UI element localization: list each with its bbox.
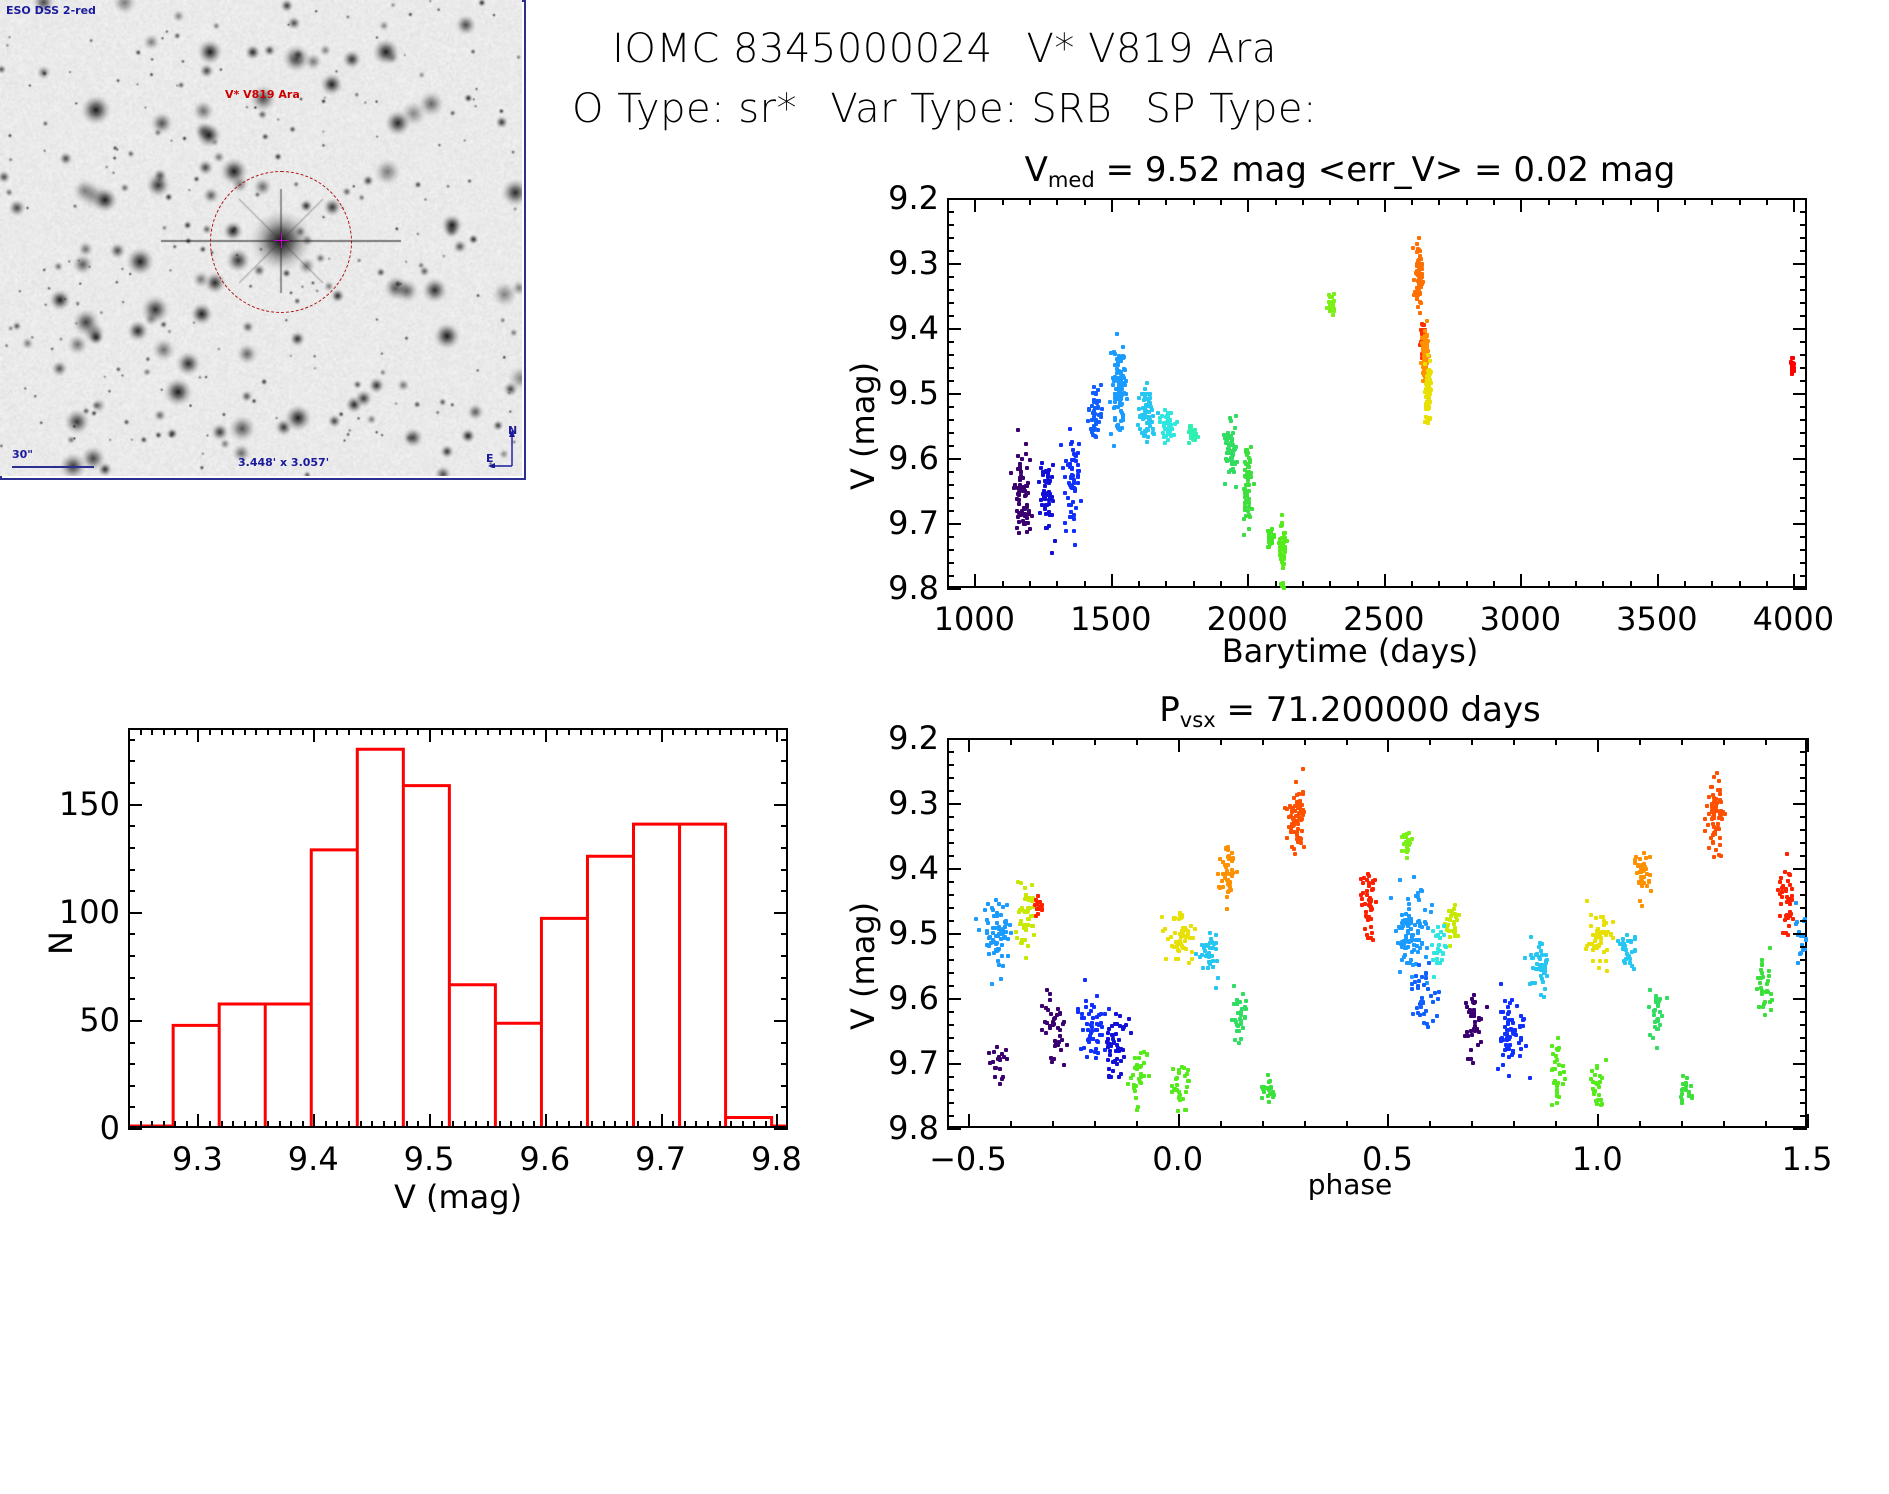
- data-point: [1232, 984, 1236, 988]
- data-point: [1093, 434, 1097, 438]
- data-point: [1134, 1065, 1138, 1069]
- data-point: [1074, 506, 1078, 510]
- data-point: [1112, 406, 1116, 410]
- axis-tick: [1793, 574, 1795, 588]
- axis-tick: [383, 1121, 385, 1128]
- data-point: [1427, 406, 1431, 410]
- axis-tick: [742, 1121, 744, 1128]
- y-axis-tick-label: 9.2: [869, 719, 939, 757]
- data-point: [1235, 1029, 1239, 1033]
- data-point: [1370, 931, 1374, 935]
- data-point: [1406, 918, 1410, 922]
- data-point: [1407, 940, 1411, 944]
- axis-tick: [221, 1121, 223, 1128]
- axis-tick: [1800, 881, 1807, 883]
- axis-tick: [1800, 1050, 1807, 1052]
- axis-tick: [1029, 581, 1031, 588]
- axis-tick: [947, 315, 954, 317]
- axis-tick: [151, 1121, 153, 1128]
- axis-tick: [968, 738, 970, 752]
- data-point: [1072, 458, 1076, 462]
- data-point: [1058, 1028, 1062, 1032]
- data-point: [1472, 993, 1476, 997]
- data-point: [1040, 1028, 1044, 1032]
- y-axis-tick-label: 9.7: [869, 504, 939, 542]
- data-point: [1116, 423, 1120, 427]
- axis-tick: [947, 497, 954, 499]
- axis-tick: [510, 1121, 512, 1128]
- data-point: [1166, 415, 1170, 419]
- iomc-star-summary-sheet: IOMC 8345000024V* V819 Ara O Type: sr* V…: [0, 0, 1889, 1494]
- data-point: [1028, 458, 1032, 462]
- axis-tick: [730, 1121, 732, 1128]
- data-point: [1135, 1108, 1139, 1112]
- data-point: [1137, 396, 1141, 400]
- axis-tick: [1800, 224, 1807, 226]
- data-point: [1416, 950, 1420, 954]
- data-point: [1241, 992, 1245, 996]
- axis-tick: [947, 224, 954, 226]
- data-point: [1438, 936, 1442, 940]
- data-point: [1106, 1031, 1110, 1035]
- data-point: [1031, 924, 1035, 928]
- data-point: [1081, 1028, 1085, 1032]
- data-point: [1036, 894, 1040, 898]
- data-point: [1429, 910, 1433, 914]
- data-point: [1589, 942, 1593, 946]
- axis-tick: [360, 728, 362, 735]
- data-point: [1073, 543, 1077, 547]
- data-point: [1137, 407, 1141, 411]
- data-point: [1761, 1005, 1765, 1009]
- axis-tick: [1346, 738, 1348, 745]
- axis-tick: [313, 728, 315, 742]
- axis-tick: [1056, 198, 1058, 205]
- axis-tick: [947, 881, 954, 883]
- data-point: [1405, 850, 1409, 854]
- data-point: [1107, 1074, 1111, 1078]
- axis-tick: [290, 728, 292, 735]
- data-point: [1325, 306, 1329, 310]
- data-point: [1406, 924, 1410, 928]
- axis-tick: [1800, 972, 1807, 974]
- data-point: [1176, 1109, 1180, 1113]
- axis-tick: [626, 1121, 628, 1128]
- axis-tick: [774, 1020, 788, 1022]
- data-point: [1294, 780, 1298, 784]
- data-point: [1223, 863, 1227, 867]
- axis-tick: [302, 728, 304, 735]
- data-point: [1076, 481, 1080, 485]
- data-point: [1420, 996, 1424, 1000]
- axis-tick: [1438, 198, 1440, 205]
- data-point: [1555, 1088, 1559, 1092]
- data-point: [1529, 935, 1533, 939]
- data-point: [1713, 808, 1717, 812]
- data-point: [1598, 1080, 1602, 1084]
- data-point: [1444, 945, 1448, 949]
- axis-tick: [707, 728, 709, 735]
- data-point: [1466, 1034, 1470, 1038]
- data-point: [1226, 890, 1230, 894]
- data-point: [992, 1050, 996, 1054]
- data-point: [1436, 925, 1440, 929]
- x-axis-tick-label: 9.3: [172, 1140, 223, 1178]
- data-point: [1299, 841, 1303, 845]
- data-point: [1301, 767, 1305, 771]
- data-point: [1015, 509, 1019, 513]
- axis-tick: [603, 728, 605, 735]
- vmed-subscript: med: [1048, 167, 1095, 192]
- axis-tick: [947, 354, 954, 356]
- data-point: [1100, 1033, 1104, 1037]
- data-point: [1089, 1049, 1093, 1053]
- data-point: [1076, 463, 1080, 467]
- data-point: [1009, 931, 1013, 935]
- axis-tick: [1387, 738, 1389, 752]
- data-point: [1117, 369, 1121, 373]
- axis-tick: [947, 972, 954, 974]
- axis-tick: [776, 1114, 778, 1128]
- data-point: [1173, 422, 1177, 426]
- histogram-outline: [130, 749, 786, 1126]
- data-point: [1430, 903, 1434, 907]
- axis-tick: [1807, 738, 1809, 752]
- data-point: [1712, 825, 1716, 829]
- data-point: [1051, 1023, 1055, 1027]
- data-point: [1044, 512, 1048, 516]
- data-point: [1437, 990, 1441, 994]
- axis-tick: [947, 738, 961, 740]
- data-point: [1417, 268, 1421, 272]
- axis-tick: [947, 276, 954, 278]
- data-point: [1243, 491, 1247, 495]
- data-point: [1427, 961, 1431, 965]
- data-point: [1719, 854, 1723, 858]
- data-point: [1025, 530, 1029, 534]
- axis-tick: [441, 728, 443, 735]
- data-point: [1456, 913, 1460, 917]
- data-point: [1518, 1025, 1522, 1029]
- data-point: [1119, 1059, 1123, 1063]
- data-point: [1423, 362, 1427, 366]
- data-point: [1057, 1040, 1061, 1044]
- data-point: [1427, 380, 1431, 384]
- data-point: [1361, 881, 1365, 885]
- axis-tick: [1304, 1121, 1306, 1128]
- x-axis-tick-label: 9.4: [288, 1140, 339, 1178]
- data-point: [1655, 1027, 1659, 1031]
- data-point: [1431, 929, 1435, 933]
- data-point: [1118, 1014, 1122, 1018]
- data-point: [1178, 913, 1182, 917]
- data-point: [1714, 804, 1718, 808]
- data-point: [1519, 1047, 1523, 1051]
- data-point: [1524, 1044, 1528, 1048]
- axis-tick: [209, 728, 211, 735]
- data-point: [1764, 990, 1768, 994]
- axis-tick: [1765, 1121, 1767, 1128]
- data-point: [1562, 1070, 1566, 1074]
- data-point: [1594, 916, 1598, 920]
- data-point: [1367, 874, 1371, 878]
- data-point: [1441, 951, 1445, 955]
- data-point: [1063, 521, 1067, 525]
- axis-tick: [781, 825, 788, 827]
- data-point: [1047, 468, 1051, 472]
- data-point: [1092, 424, 1096, 428]
- data-point: [1218, 857, 1222, 861]
- data-point: [1037, 480, 1041, 484]
- data-point: [1246, 465, 1250, 469]
- data-point: [1088, 1034, 1092, 1038]
- data-point: [1148, 392, 1152, 396]
- data-point: [1781, 931, 1785, 935]
- data-point: [1433, 991, 1437, 995]
- data-point: [1147, 1074, 1151, 1078]
- data-point: [1244, 999, 1248, 1003]
- data-point: [1222, 433, 1226, 437]
- data-point: [1122, 1055, 1126, 1059]
- data-point: [1246, 451, 1250, 455]
- data-point: [1165, 420, 1169, 424]
- data-point: [1285, 836, 1289, 840]
- axis-tick: [499, 728, 501, 735]
- data-point: [1416, 986, 1420, 990]
- data-point: [1150, 408, 1154, 412]
- data-point: [1289, 830, 1293, 834]
- data-point: [1115, 357, 1119, 361]
- data-point: [1402, 955, 1406, 959]
- axis-tick: [510, 728, 512, 735]
- data-point: [1115, 1057, 1119, 1061]
- data-point: [1638, 857, 1642, 861]
- axis-tick: [742, 728, 744, 735]
- axis-tick: [637, 728, 639, 735]
- axis-tick: [1739, 198, 1741, 205]
- data-point: [1200, 953, 1204, 957]
- axis-tick: [244, 728, 246, 735]
- axis-tick: [781, 890, 788, 892]
- data-point: [1113, 352, 1117, 356]
- data-point: [1183, 926, 1187, 930]
- axis-tick: [1493, 198, 1495, 205]
- catalog-id: IOMC 8345000024: [612, 26, 992, 72]
- data-point: [1018, 908, 1022, 912]
- axis-tick: [128, 760, 135, 762]
- axis-tick: [1657, 574, 1659, 588]
- data-point: [1412, 875, 1416, 879]
- data-point: [1187, 1079, 1191, 1083]
- axis-tick: [197, 1114, 199, 1128]
- axis-tick: [487, 1121, 489, 1128]
- y-axis-tick-label: 9.6: [869, 439, 939, 477]
- axis-tick: [580, 728, 582, 735]
- x-axis-tick-label: 1.5: [1782, 1140, 1833, 1178]
- data-point: [1225, 907, 1229, 911]
- data-point: [1301, 813, 1305, 817]
- y-axis-tick-label: 50: [50, 1001, 120, 1039]
- data-point: [1170, 1090, 1174, 1094]
- data-point: [1585, 899, 1589, 903]
- data-point: [1140, 431, 1144, 435]
- data-point: [1703, 817, 1707, 821]
- y-axis-tick-label: 9.2: [869, 179, 939, 217]
- axis-tick: [1800, 829, 1807, 831]
- axis-tick: [1800, 1102, 1807, 1104]
- axis-tick: [1329, 581, 1331, 588]
- axis-tick: [568, 1121, 570, 1128]
- axis-tick: [232, 1121, 234, 1128]
- data-point: [1759, 968, 1763, 972]
- data-point: [1328, 295, 1332, 299]
- axis-tick: [1657, 198, 1659, 212]
- data-point: [1070, 484, 1074, 488]
- axis-tick: [1793, 1063, 1807, 1065]
- data-point: [1019, 881, 1023, 885]
- data-point: [1410, 987, 1414, 991]
- axis-tick: [128, 933, 135, 935]
- data-point: [1709, 836, 1713, 840]
- data-point: [1416, 305, 1420, 309]
- data-point: [998, 1082, 1002, 1086]
- data-point: [1420, 889, 1424, 893]
- axis-tick: [267, 1121, 269, 1128]
- axis-tick: [522, 1121, 524, 1128]
- axis-tick: [781, 1042, 788, 1044]
- data-point: [1214, 941, 1218, 945]
- data-point: [1436, 997, 1440, 1001]
- data-point: [1281, 566, 1285, 570]
- data-point: [1094, 1056, 1098, 1060]
- data-point: [1182, 1066, 1186, 1070]
- data-point: [1597, 966, 1601, 970]
- phase-plot-panel: Pvsx = 71.200000 days V (mag) phase −0.5…: [830, 690, 1870, 1270]
- data-point: [1231, 467, 1235, 471]
- axis-tick: [499, 1121, 501, 1128]
- data-point: [1431, 1019, 1435, 1023]
- x-axis-tick-label: 1.0: [1572, 1140, 1623, 1178]
- data-point: [1563, 1077, 1567, 1081]
- axis-tick: [661, 728, 663, 742]
- data-point: [1229, 419, 1233, 423]
- data-point: [1790, 372, 1794, 376]
- axis-tick: [1793, 523, 1807, 525]
- data-point: [1177, 1068, 1181, 1072]
- axis-tick: [128, 869, 135, 871]
- data-point: [1134, 1096, 1138, 1100]
- data-point: [1530, 956, 1534, 960]
- axis-tick: [947, 458, 961, 460]
- data-point: [1418, 311, 1422, 315]
- axis-tick: [1052, 738, 1054, 745]
- data-point: [1000, 1077, 1004, 1081]
- data-point: [1266, 529, 1270, 533]
- data-point: [1642, 881, 1646, 885]
- data-point: [1064, 529, 1068, 533]
- axis-tick: [947, 380, 954, 382]
- data-point: [1243, 460, 1247, 464]
- data-point: [1034, 914, 1038, 918]
- data-point: [1710, 785, 1714, 789]
- data-point: [1592, 946, 1596, 950]
- data-point: [1405, 856, 1409, 860]
- axis-tick: [348, 728, 350, 735]
- axis-tick: [128, 890, 135, 892]
- data-point: [988, 1061, 992, 1065]
- axis-tick: [475, 728, 477, 735]
- data-point: [1127, 1017, 1131, 1021]
- data-point: [1095, 994, 1099, 998]
- data-point: [1108, 1042, 1112, 1046]
- y-axis-tick-label: 100: [50, 893, 120, 931]
- data-point: [1208, 931, 1212, 935]
- axis-tick: [781, 760, 788, 762]
- axis-tick: [290, 1121, 292, 1128]
- axis-tick: [1800, 354, 1807, 356]
- data-point: [1429, 994, 1433, 998]
- data-point: [987, 1051, 991, 1055]
- data-point: [1685, 1076, 1689, 1080]
- axis-tick: [947, 1115, 954, 1117]
- axis-tick: [1471, 1121, 1473, 1128]
- data-point: [1023, 513, 1027, 517]
- data-point: [1400, 835, 1404, 839]
- data-point: [1006, 954, 1010, 958]
- data-point: [1472, 1001, 1476, 1005]
- data-point: [1177, 949, 1181, 953]
- axis-tick: [1800, 419, 1807, 421]
- data-point: [1123, 368, 1127, 372]
- axis-tick: [533, 1121, 535, 1128]
- data-point: [1169, 434, 1173, 438]
- axis-tick: [1800, 367, 1807, 369]
- period-symbol: P: [1159, 690, 1180, 730]
- data-point: [1637, 881, 1641, 885]
- data-point: [1652, 1013, 1656, 1017]
- data-point: [999, 977, 1003, 981]
- axis-tick: [1800, 575, 1807, 577]
- axis-tick: [441, 1121, 443, 1128]
- data-point: [1293, 852, 1297, 856]
- axis-tick: [1302, 581, 1304, 588]
- data-point: [1145, 427, 1149, 431]
- axis-tick: [774, 804, 788, 806]
- data-point: [1361, 891, 1365, 895]
- axis-tick: [1002, 198, 1004, 205]
- axis-tick: [947, 907, 954, 909]
- data-point: [1184, 935, 1188, 939]
- axis-tick: [174, 1121, 176, 1128]
- data-point: [1647, 1005, 1651, 1009]
- data-point: [1415, 250, 1419, 254]
- axis-tick: [947, 302, 954, 304]
- axis-tick: [1178, 1114, 1180, 1128]
- axis-tick: [1548, 581, 1550, 588]
- axis-tick: [1711, 198, 1713, 205]
- data-point: [1270, 527, 1274, 531]
- axis-tick: [947, 510, 954, 512]
- axis-tick: [947, 946, 954, 948]
- data-point: [1095, 1028, 1099, 1032]
- data-point: [1124, 379, 1128, 383]
- data-point: [1369, 925, 1373, 929]
- data-point: [1553, 1079, 1557, 1083]
- data-point: [1063, 475, 1067, 479]
- axis-tick: [1555, 1121, 1557, 1128]
- data-point: [1507, 1055, 1511, 1059]
- data-point: [1507, 1074, 1511, 1078]
